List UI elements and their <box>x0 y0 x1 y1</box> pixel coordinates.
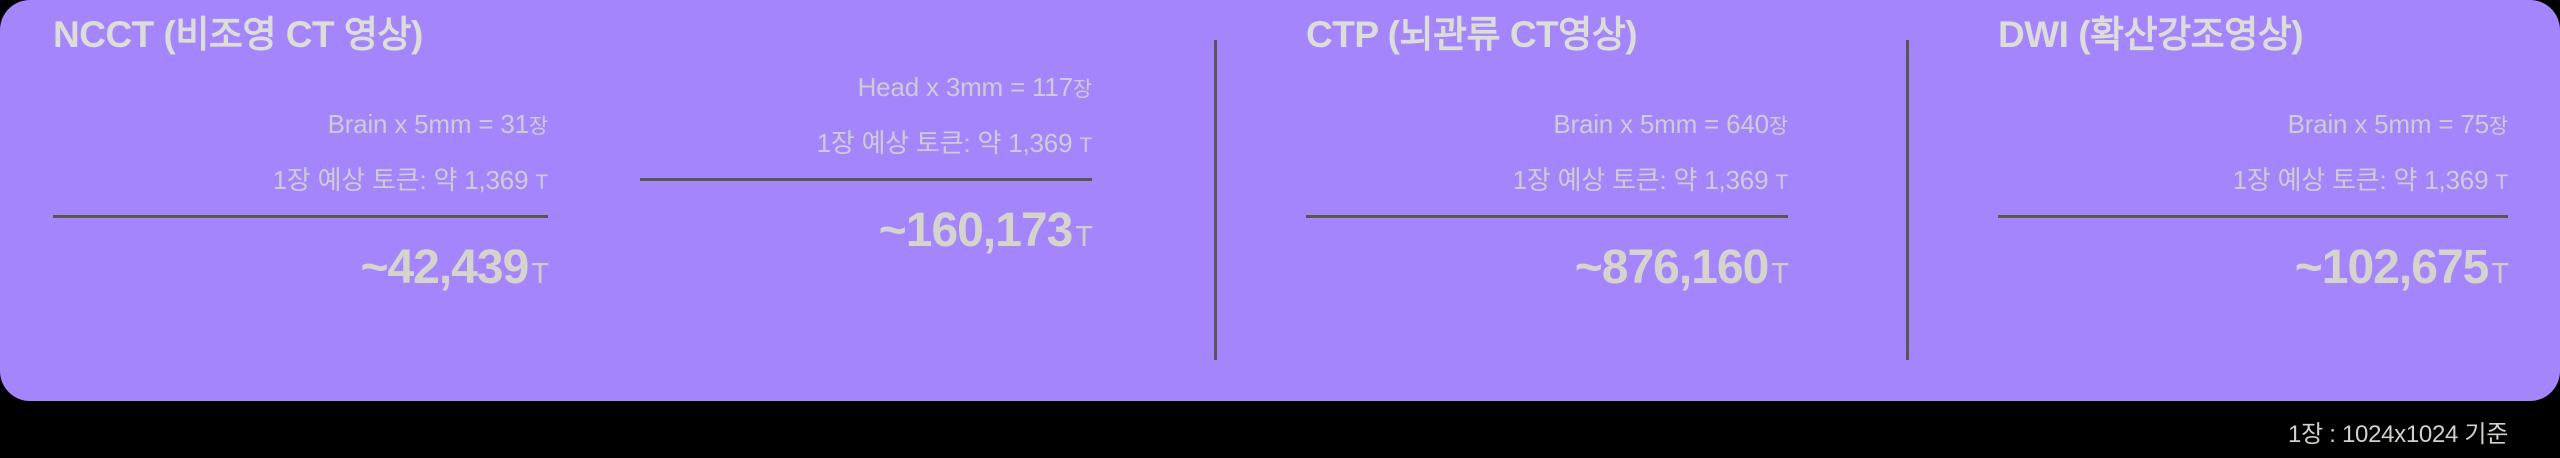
total-tokens-value: ~876,160 <box>1575 241 1769 294</box>
total-tokens-unit: T <box>531 258 548 290</box>
modality-column-head: Head x 3mm = 117장 1장 예상 토큰: 약 1,369 T ~1… <box>620 0 1214 401</box>
screenshot-root: NCCT (비조영 CT 영상) Brain x 5mm = 31장 1장 예상… <box>0 0 2560 458</box>
total-tokens-unit: T <box>2491 258 2508 290</box>
slice-count-unit: 장 <box>1769 115 1788 138</box>
metrics-dwi: Brain x 5mm = 75장 1장 예상 토큰: 약 1,369 T ~1… <box>1998 111 2508 292</box>
divider-rule-head <box>640 178 1092 181</box>
per-slice-token-line-ctp: 1장 예상 토큰: 약 1,369 T <box>1306 167 1788 193</box>
divider-rule-ctp <box>1306 215 1788 218</box>
slice-count-text: Brain x 5mm = 75 <box>2288 109 2489 139</box>
metrics-head: Head x 3mm = 117장 1장 예상 토큰: 약 1,369 T ~1… <box>640 74 1092 255</box>
slice-count-text: Head x 3mm = 117 <box>858 72 1073 102</box>
total-tokens-unit: T <box>1771 258 1788 290</box>
per-slice-token-line-ncct: 1장 예상 토큰: 약 1,369 T <box>53 167 548 193</box>
divider-rule-ncct <box>53 215 548 218</box>
per-slice-token-unit: T <box>2495 171 2508 194</box>
slice-count-text: Brain x 5mm = 31 <box>328 109 529 139</box>
column-title-ctp: CTP (뇌관류 CT영상) <box>1306 16 1788 53</box>
per-slice-token-text: 1장 예상 토큰: 약 1,369 <box>273 165 529 195</box>
per-slice-token-line-dwi: 1장 예상 토큰: 약 1,369 T <box>1998 167 2508 193</box>
total-tokens-unit: T <box>1075 221 1092 253</box>
total-tokens-ncct: ~42,439T <box>53 244 548 292</box>
slice-count-line-ctp: Brain x 5mm = 640장 <box>1306 111 1788 137</box>
slice-count-unit: 장 <box>529 115 548 138</box>
modality-column-ctp: CTP (뇌관류 CT영상) Brain x 5mm = 640장 1장 예상 … <box>1214 0 1906 401</box>
column-title-dwi: DWI (확산강조영상) <box>1998 16 2508 53</box>
footnote-slice-resolution: 1장 : 1024x1024 기준 <box>2288 414 2508 449</box>
modality-column-ncct: NCCT (비조영 CT 영상) Brain x 5mm = 31장 1장 예상… <box>0 0 620 401</box>
slice-count-line-ncct: Brain x 5mm = 31장 <box>53 111 548 137</box>
per-slice-token-unit: T <box>1079 134 1092 157</box>
total-tokens-value: ~102,675 <box>2295 241 2489 294</box>
divider-rule-dwi <box>1998 215 2508 218</box>
per-slice-token-line-head: 1장 예상 토큰: 약 1,369 T <box>640 130 1092 156</box>
per-slice-token-text: 1장 예상 토큰: 약 1,369 <box>2233 165 2489 195</box>
per-slice-token-unit: T <box>1775 171 1788 194</box>
total-tokens-ctp: ~876,160T <box>1306 244 1788 292</box>
metrics-ncct: Brain x 5mm = 31장 1장 예상 토큰: 약 1,369 T ~4… <box>53 111 548 292</box>
column-title-ncct: NCCT (비조영 CT 영상) <box>53 16 548 53</box>
slice-count-unit: 장 <box>1073 78 1092 101</box>
slice-count-line-head: Head x 3mm = 117장 <box>640 74 1092 100</box>
per-slice-token-text: 1장 예상 토큰: 약 1,369 <box>1513 165 1769 195</box>
total-tokens-value: ~42,439 <box>360 241 528 294</box>
total-tokens-head: ~160,173T <box>640 207 1092 255</box>
total-tokens-value: ~160,173 <box>879 204 1073 257</box>
per-slice-token-text: 1장 예상 토큰: 약 1,369 <box>817 128 1073 158</box>
per-slice-token-unit: T <box>535 171 548 194</box>
modality-column-dwi: DWI (확산강조영상) Brain x 5mm = 75장 1장 예상 토큰:… <box>1906 0 2560 401</box>
total-tokens-dwi: ~102,675T <box>1998 244 2508 292</box>
slice-count-line-dwi: Brain x 5mm = 75장 <box>1998 111 2508 137</box>
modality-columns: NCCT (비조영 CT 영상) Brain x 5mm = 31장 1장 예상… <box>0 0 2560 401</box>
metrics-ctp: Brain x 5mm = 640장 1장 예상 토큰: 약 1,369 T ~… <box>1306 111 1788 292</box>
slice-count-unit: 장 <box>2489 115 2508 138</box>
slice-count-text: Brain x 5mm = 640 <box>1553 109 1769 139</box>
